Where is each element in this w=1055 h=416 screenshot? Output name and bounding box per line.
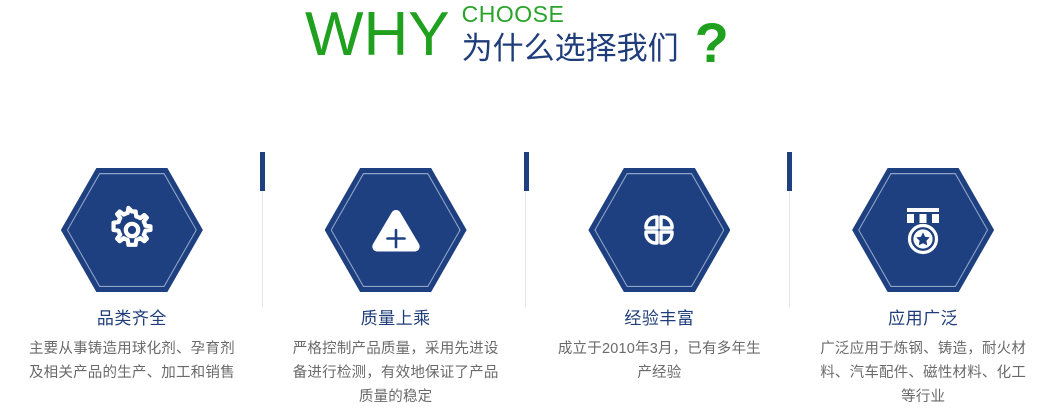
section-header: WHY CHOOSE 为什么选择我们 ? bbox=[0, 0, 1055, 92]
card-description: 成立于2010年3月，已有多年生产经验 bbox=[552, 337, 767, 385]
header-text-stack: CHOOSE 为什么选择我们 bbox=[462, 2, 679, 67]
card-title: 质量上乘 bbox=[361, 309, 431, 329]
feature-card: 应用广泛 广泛应用于炼钢、铸造，耐火材料、汽车配件、磁性材料、化工等行业 bbox=[791, 150, 1055, 416]
feature-card: 经验丰富 成立于2010年3月，已有多年生产经验 bbox=[528, 150, 792, 416]
card-description: 严格控制产品质量，采用先进设备进行检测，有效地保证了产品质量的稳定 bbox=[288, 337, 503, 409]
clover-icon bbox=[588, 168, 730, 292]
triangle-plus-icon bbox=[325, 168, 467, 292]
divider-line bbox=[262, 191, 263, 307]
card-title: 品类齐全 bbox=[97, 309, 167, 329]
feature-card: 品类齐全 主要从事铸造用球化剂、孕育剂及相关产品的生产、加工和销售 bbox=[0, 150, 264, 416]
hexagon-badge bbox=[852, 168, 994, 292]
divider-line bbox=[789, 191, 790, 307]
gear-icon bbox=[61, 168, 203, 292]
hexagon-badge bbox=[325, 168, 467, 292]
feature-card: 质量上乘 严格控制产品质量，采用先进设备进行检测，有效地保证了产品质量的稳定 bbox=[264, 150, 528, 416]
hexagon-badge bbox=[588, 168, 730, 292]
divider-line bbox=[525, 191, 526, 307]
card-description: 主要从事铸造用球化剂、孕育剂及相关产品的生产、加工和销售 bbox=[24, 337, 239, 385]
feature-cards: 品类齐全 主要从事铸造用球化剂、孕育剂及相关产品的生产、加工和销售 质量 bbox=[0, 150, 1055, 416]
card-title: 经验丰富 bbox=[624, 309, 694, 329]
choose-word: CHOOSE bbox=[462, 2, 679, 26]
medal-star-icon bbox=[852, 168, 994, 292]
why-word: WHY bbox=[305, 2, 450, 68]
hexagon-badge bbox=[61, 168, 203, 292]
page-title-chinese: 为什么选择我们 bbox=[462, 31, 679, 67]
question-mark: ? bbox=[695, 14, 729, 72]
header-title-group: WHY CHOOSE 为什么选择我们 ? bbox=[305, 0, 729, 72]
card-title: 应用广泛 bbox=[888, 309, 958, 329]
card-description: 广泛应用于炼钢、铸造，耐火材料、汽车配件、磁性材料、化工等行业 bbox=[816, 337, 1031, 409]
